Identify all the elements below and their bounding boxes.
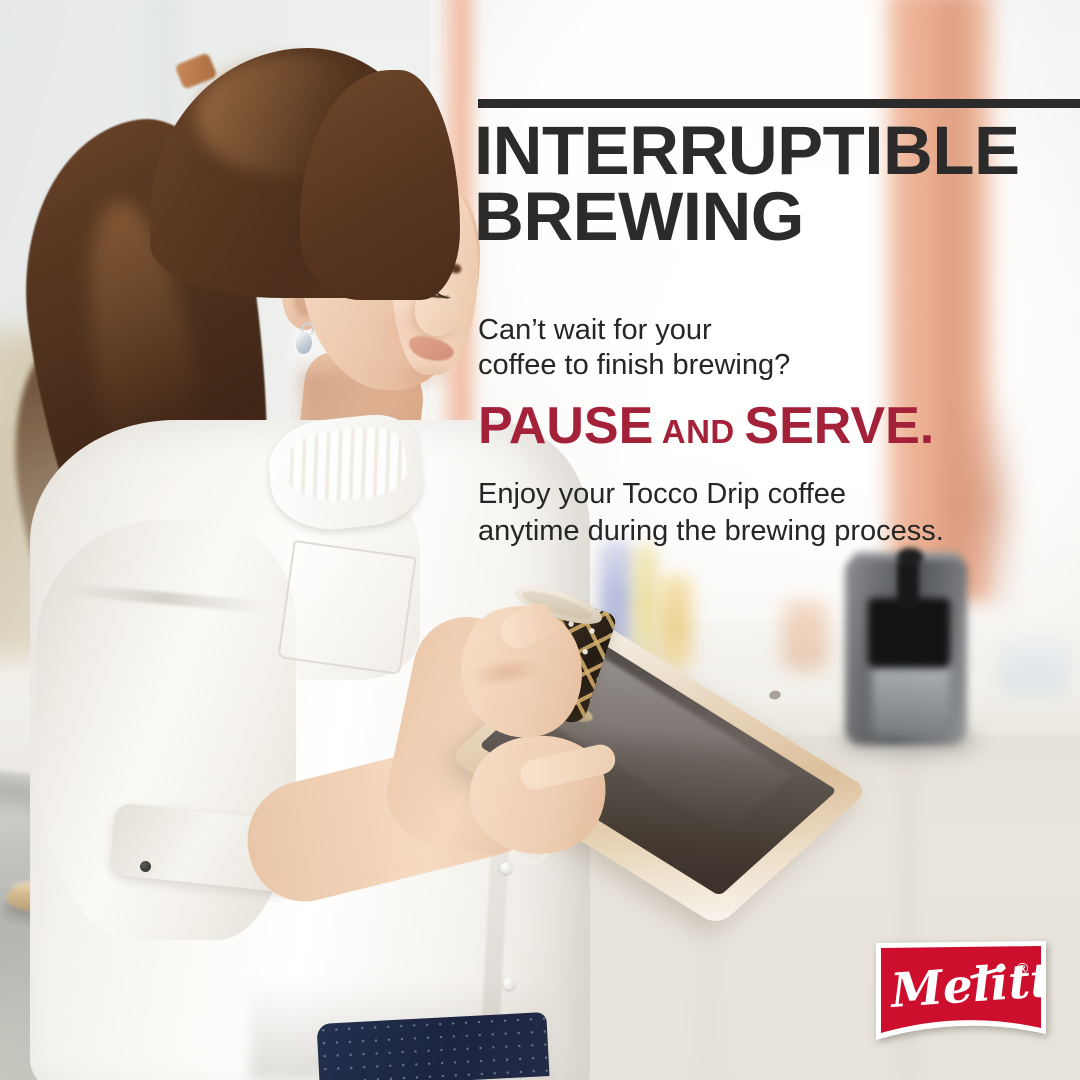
coffee-maker-carafe (872, 660, 950, 738)
coffee-maker-neck (897, 560, 919, 608)
tagline-word-serve: SERVE. (744, 397, 934, 455)
blouse-pocket (277, 540, 416, 675)
tagline: PAUSE AND SERVE. (478, 400, 1078, 452)
blouse-button-2 (500, 862, 512, 874)
melitta-interruptible-brewing-ad: INTERRUPTIBLE BREWING Can’t wait for you… (0, 0, 1080, 1080)
body-copy: Enjoy your Tocco Drip coffee anytime dur… (478, 476, 1038, 549)
sill-jar-2 (782, 600, 828, 670)
logo-registered-mark: ® (1015, 960, 1030, 978)
sill-bottle-amber (658, 575, 692, 670)
earring-gem (296, 332, 312, 354)
chin-shadow (388, 360, 458, 390)
tagline-connector-and: AND (653, 413, 744, 450)
subheadline: Can’t wait for your coffee to finish bre… (478, 313, 1038, 384)
tagline-word-pause: PAUSE (478, 397, 653, 455)
jeans-pattern (316, 1012, 549, 1080)
headline-rule (478, 99, 1080, 108)
cuff-button (140, 861, 151, 872)
coffee-maker-knob (897, 548, 923, 566)
page-title: INTERRUPTIBLE BREWING (474, 118, 1074, 250)
coffee-maker-brew-head (868, 598, 950, 668)
melitta-logo-svg: Melitta ® (876, 941, 1046, 1040)
sill-tray (1000, 640, 1070, 696)
melitta-logo: Melitta ® (876, 941, 1046, 1040)
